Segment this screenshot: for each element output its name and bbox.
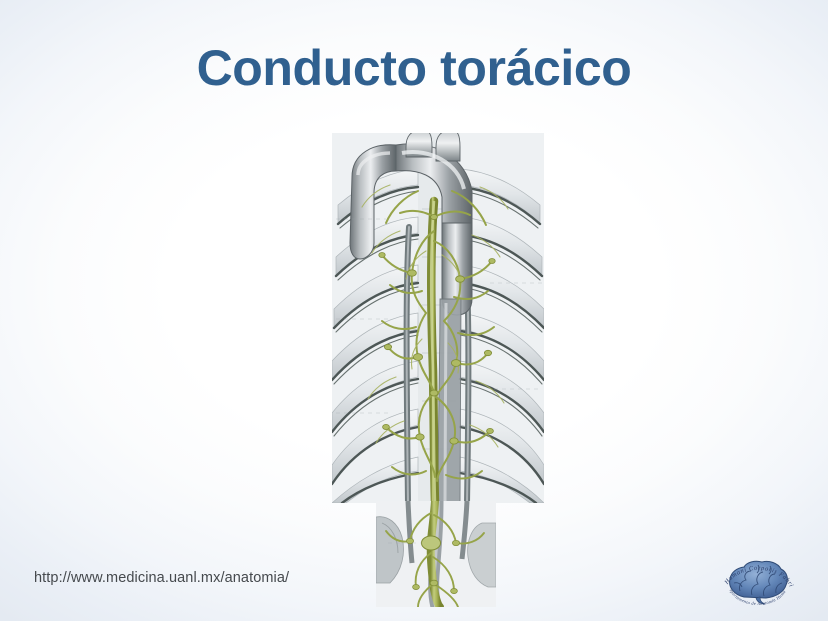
source-url[interactable]: http://www.medicina.uanl.mx/anatomia/ — [34, 570, 289, 586]
thorax-upper-panel — [332, 131, 544, 503]
cisterna-chyli — [422, 536, 441, 550]
presentation-slide: Conducto torácico — [0, 0, 828, 621]
anatomy-department-logo: De Humani Corporis Fabrica Departamento … — [716, 549, 800, 605]
thoracic-duct-illustration — [330, 131, 546, 609]
thoracic-duct-image — [330, 131, 546, 609]
page-title: Conducto torácico — [0, 40, 828, 96]
thoracic-duct — [431, 201, 435, 503]
thorax-lower-panel — [376, 501, 496, 607]
